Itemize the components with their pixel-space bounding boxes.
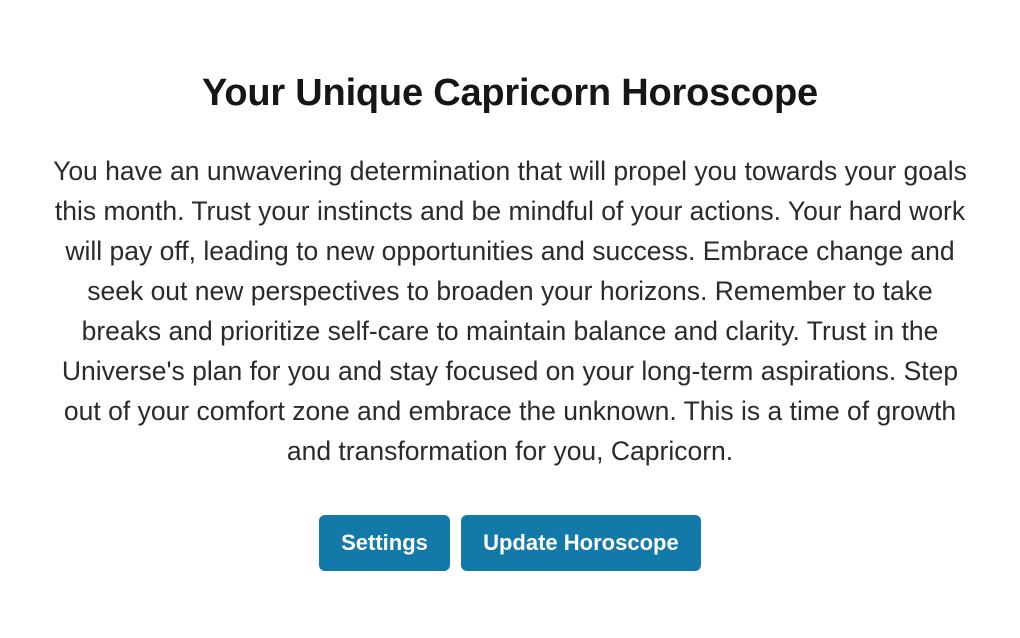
horoscope-page: Your Unique Capricorn Horoscope You have… — [0, 0, 1020, 638]
action-button-row: Settings Update Horoscope — [319, 515, 701, 571]
update-horoscope-button[interactable]: Update Horoscope — [461, 515, 701, 571]
page-title: Your Unique Capricorn Horoscope — [0, 74, 1020, 114]
horoscope-text: You have an unwavering determination tha… — [51, 151, 969, 471]
settings-button[interactable]: Settings — [319, 515, 450, 571]
